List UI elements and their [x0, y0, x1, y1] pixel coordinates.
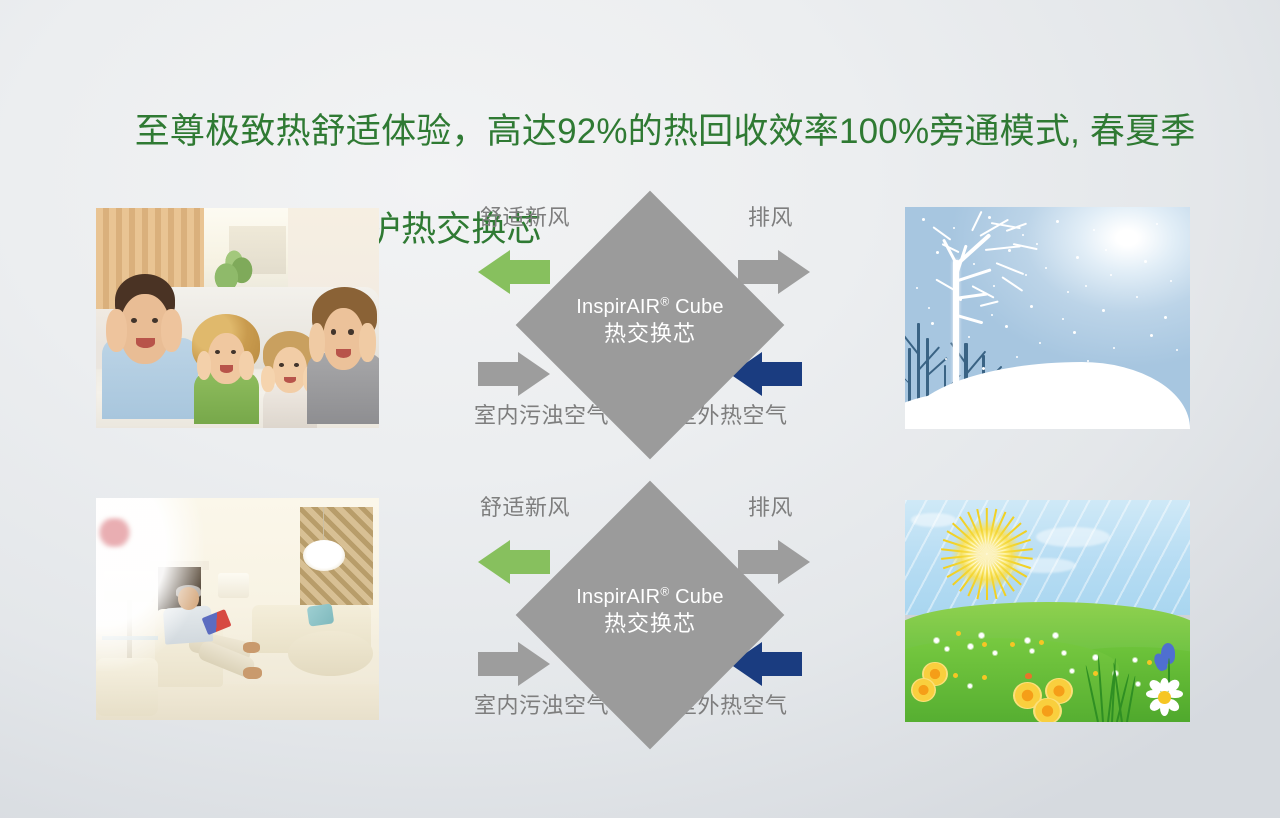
- pendant-lamp: [303, 540, 345, 571]
- arrow-exhaust-air-right: [738, 250, 810, 294]
- man-foot-lower: [243, 667, 261, 679]
- child-small-eye-right: [294, 363, 299, 367]
- white-daisy-large: [1144, 678, 1184, 718]
- child-curly-hand-right: [239, 351, 254, 380]
- arrow-exhaust-air-right: [738, 540, 810, 584]
- person-mother: [305, 287, 379, 423]
- child-curly-smile: [220, 365, 233, 373]
- label-top-left-supply-air: 舒适新风: [480, 495, 570, 521]
- arrow-supply-air-left: [478, 250, 550, 294]
- slide-canvas: 至尊极致热舒适体验，高达92%的热回收效率100%旁通模式, 春夏季 节超低能耗…: [0, 0, 1280, 818]
- child-small-head: [273, 347, 307, 393]
- diagram-heat-exchange-winter: 舒适新风 排风 室内污浊空气 室外热空气 InspirAIR® Cube 热交换: [460, 200, 840, 450]
- grass-tuft: [1093, 651, 1133, 722]
- arrow-indoor-air-right: [478, 642, 550, 686]
- photo-summer-meadow-scene: [905, 500, 1190, 722]
- arrow-indoor-air-right: [478, 352, 550, 396]
- mother-hand-right: [359, 323, 376, 363]
- sun: [945, 507, 1028, 602]
- child-small-hand-left: [261, 366, 275, 392]
- throw-pillow: [307, 603, 335, 626]
- table-lamp: [218, 573, 249, 597]
- person-father: [102, 274, 198, 419]
- mother-smile: [336, 349, 351, 359]
- butterfly: [1025, 673, 1032, 679]
- diagram-heat-exchange-summer: 舒适新风 排风 室内污浊空气 室外热空气 InspirAIR® Cube 热交换…: [460, 490, 840, 740]
- label-bottom-left-indoor-polluted-air: 室内污浊空气: [474, 693, 609, 719]
- mother-eye-right: [348, 329, 354, 334]
- photo-living-room-reading: [96, 498, 379, 720]
- photo-winter-snow-scene: [905, 207, 1190, 429]
- dandelion-2: [911, 678, 937, 702]
- mother-eye-left: [331, 329, 337, 334]
- pendant-cord: [323, 507, 325, 543]
- round-ottoman: [288, 631, 373, 675]
- child-small-eye-left: [279, 363, 284, 367]
- pink-blur-accent: [96, 518, 133, 547]
- label-top-left-supply-air: 舒适新风: [480, 205, 570, 231]
- man-foot-upper: [243, 642, 260, 653]
- label-bottom-left-indoor-polluted-air: 室内污浊空气: [474, 403, 609, 429]
- father-hand-left: [106, 309, 127, 353]
- mother-head: [323, 308, 364, 371]
- label-top-right-exhaust-air: 排风: [748, 495, 793, 521]
- father-hand-right: [161, 309, 182, 353]
- photo-family-indoor: [96, 208, 379, 428]
- father-smile: [136, 338, 154, 348]
- dandelion-5: [1033, 698, 1062, 722]
- child-curly-eye-right: [231, 350, 236, 354]
- child-curly-hand-left: [197, 351, 212, 380]
- mother-hand-left: [309, 323, 326, 363]
- arrow-supply-air-left: [478, 540, 550, 584]
- page-title-line1: 至尊极致热舒适体验，高达92%的热回收效率100%旁通模式, 春夏季: [135, 112, 1196, 151]
- cloud-1: [1036, 527, 1110, 547]
- person-child-curly: [189, 314, 263, 424]
- label-top-right-exhaust-air: 排风: [748, 205, 793, 231]
